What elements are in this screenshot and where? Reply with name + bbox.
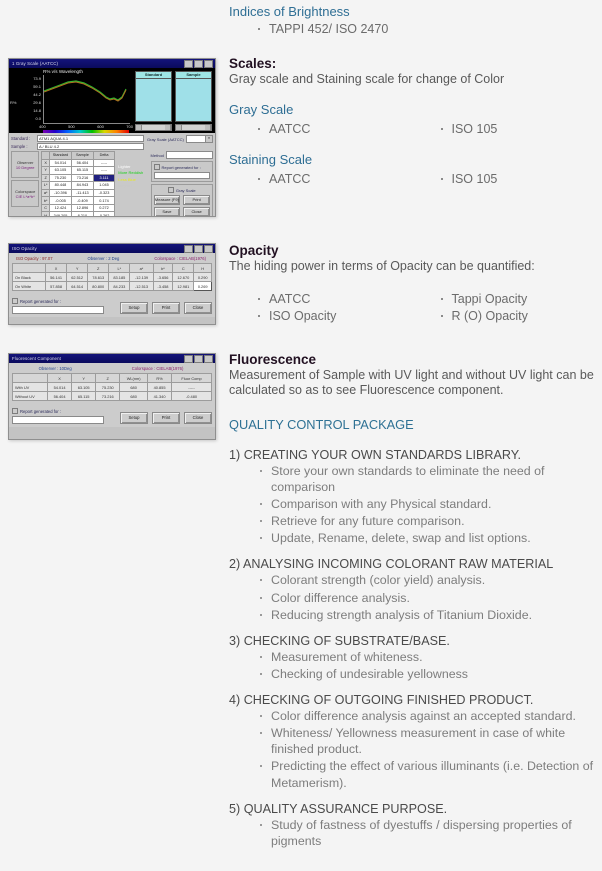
cell-delta: 0.174: [93, 197, 115, 205]
y-tick: 44.2: [21, 91, 41, 99]
content-column: Indices of Brightness TAPPI 452/ ISO 247…: [229, 0, 594, 850]
gray-scale-heading[interactable]: Gray Scale: [229, 102, 594, 117]
color-preview-panes: Standard Sample: [135, 68, 215, 133]
close-icon[interactable]: [204, 60, 213, 68]
cell: 680: [120, 392, 148, 401]
right-panel-top: Gray Scale (AATCC) ▾: [147, 135, 213, 151]
gray-scale-left-col: AATCC: [229, 119, 412, 138]
list-item: R (O) Opacity: [452, 308, 595, 324]
corner-cell: [13, 264, 46, 273]
method-label: Method: [151, 153, 164, 158]
column-header: WL(nm): [120, 374, 148, 383]
cell-sample: 84.943: [72, 182, 94, 190]
row-label: Without UV: [13, 392, 48, 401]
x-tick: 700: [126, 124, 133, 129]
fluorescence-buttons: Setup Print Close: [120, 412, 212, 424]
setup-button[interactable]: Setup: [120, 412, 148, 424]
y-tick: 0.0: [21, 115, 41, 123]
sample-input[interactable]: [37, 143, 144, 150]
opacity-buttons: Setup Print Close: [120, 302, 212, 314]
y-tick: 14.8: [21, 107, 41, 115]
column-header: Delta: [93, 152, 115, 160]
column-header: Z: [96, 374, 120, 383]
cell: 80.800: [88, 282, 109, 291]
report-group: Report generated for :: [12, 298, 104, 314]
list-item: Checking of undesirable yellowness: [271, 666, 594, 682]
staining-scale-heading[interactable]: Staining Scale: [229, 152, 594, 167]
qc-group: 5) QUALITY ASSURANCE PURPOSE. Study of f…: [229, 802, 594, 849]
scroll-left-arrow[interactable]: [136, 125, 142, 130]
scales-description: Gray scale and Staining scale for change…: [229, 72, 594, 88]
opacity-footer: Report generated for : Setup Print Close: [12, 298, 212, 314]
column-header: Standard: [49, 152, 71, 160]
scales-heading: Scales:: [229, 56, 594, 71]
cell-delta: 0.272: [93, 204, 115, 212]
method-input[interactable]: [166, 151, 213, 159]
column-header: X: [48, 374, 72, 383]
fluorescence-table: X Y Z WL(nm) R% Fluor Comp With UV 54.01…: [12, 373, 212, 401]
table-header-row: X Y Z L* a* b* C H: [13, 264, 212, 273]
qc-group: 2) ANALYSING INCOMING COLORANT RAW MATER…: [229, 557, 594, 622]
table-row: On White 57.858 64.514 80.800 84.233 -12…: [13, 282, 212, 291]
staining-scale-right-col: ISO 105: [412, 169, 595, 188]
print-button[interactable]: Print: [183, 195, 210, 205]
cell: 83.185: [109, 273, 130, 282]
list-item: Colorant strength (color yield) analysis…: [271, 572, 594, 588]
list-item: ISO 105: [452, 121, 595, 137]
table-row: L* 80.448 84.943 1.045: [42, 182, 115, 190]
cell: 680: [120, 383, 148, 392]
column-header: X: [46, 264, 67, 273]
list-item: Color difference analysis against an acc…: [271, 708, 594, 724]
indices-of-brightness-heading[interactable]: Indices of Brightness: [229, 4, 594, 19]
list-item: Predicting the effect of various illumin…: [271, 758, 594, 790]
cell: 57.858: [46, 282, 67, 291]
list-item: TAPPI 452/ ISO 2470: [269, 21, 594, 37]
fluorescence-window-body: Observer : 10Deg Colorspace : CIELAB(197…: [9, 363, 215, 427]
corner-cell: [42, 152, 50, 160]
chevron-down-icon[interactable]: ▾: [205, 136, 212, 142]
cell-standard: -0.005: [49, 197, 71, 205]
opacity-meta-row: ISO Opacity : 97.07 Observer : 2 Deg Col…: [12, 256, 212, 263]
column-header: L*: [109, 264, 130, 273]
list-item: Comparison with any Physical standard.: [271, 496, 594, 512]
sample-pane: Sample: [175, 71, 212, 133]
report-checkbox[interactable]: Report generated for :: [12, 298, 104, 304]
opacity-window-body: ISO Opacity : 97.07 Observer : 2 Deg Col…: [9, 253, 215, 317]
opacity-description: The hiding power in terms of Opacity can…: [229, 259, 594, 275]
cell-delta-selected: 3.111: [93, 174, 115, 182]
sample-field-label: Sample :: [11, 144, 37, 149]
gray-scale-controls: Standard : Sample : Gray Scale (AATCC) ▾: [9, 133, 215, 217]
table-row: Without UV 56.404 65.115 73.216 680 41.3…: [13, 392, 212, 401]
note-brighter: Brighter: [118, 183, 148, 189]
chart-plot-area: [43, 75, 130, 124]
checkbox-icon[interactable]: [12, 408, 18, 414]
close-button[interactable]: Close: [184, 412, 212, 424]
list-item: AATCC: [269, 121, 412, 137]
screenshot-gray-scale[interactable]: 1 Gray Scale (AATCC) R% v/s Wavelength R…: [8, 58, 216, 217]
spectral-curve: [44, 75, 130, 123]
row-label: Z: [42, 174, 50, 182]
list-item: AATCC: [269, 171, 412, 187]
cell: 56.404: [48, 392, 72, 401]
cell: 12.670: [173, 273, 194, 282]
window-controls[interactable]: [184, 355, 214, 363]
y-tick: 73.9: [21, 75, 41, 83]
table-row: H 349.205 8.210 -0.262: [42, 212, 115, 217]
cell-standard: -10.396: [49, 189, 71, 197]
sample-color-swatch: [175, 79, 212, 122]
standard-field-label: Standard :: [11, 136, 37, 141]
cell: -12.139: [130, 273, 153, 282]
observer-card[interactable]: Observer 10 Degree: [11, 151, 39, 178]
staining-scale-left-col: AATCC: [229, 169, 412, 188]
cell: -3.656: [153, 273, 173, 282]
checkbox-icon[interactable]: [154, 164, 160, 170]
scale-select-label: Gray Scale (AATCC): [147, 137, 184, 142]
list-item: Tappi Opacity: [452, 291, 595, 307]
fluor-meta-row: Observer : 10Deg Colorspace : CIELAB(197…: [12, 366, 212, 373]
cell: 73.216: [96, 392, 120, 401]
row-label: L*: [42, 182, 50, 190]
cell: 0.290: [194, 273, 212, 282]
window-title-bar: 1 Gray Scale (AATCC): [9, 59, 215, 68]
staining-scale-columns: AATCC ISO 105: [229, 169, 594, 188]
measure-button[interactable]: Measure (F9): [154, 195, 181, 205]
row-label: C: [42, 204, 50, 212]
opacity-right-col: Tappi Opacity R (O) Opacity: [412, 289, 595, 326]
list-item: Study of fastness of dyestuffs / dispers…: [271, 817, 594, 849]
cell: 12.981: [173, 282, 194, 291]
cell: -0.480: [172, 392, 212, 401]
qc-group-items: Colorant strength (color yield) analysis…: [229, 572, 594, 622]
cell-standard: 54.014: [49, 159, 71, 167]
checkbox-icon[interactable]: [168, 187, 174, 193]
documentation-page: Indices of Brightness TAPPI 452/ ISO 247…: [0, 0, 602, 871]
maximize-icon[interactable]: [194, 355, 203, 363]
table-row: Z 75.230 73.216 3.111: [42, 174, 115, 182]
list-item: Reducing strength analysis of Titanium D…: [271, 607, 594, 623]
table-header-row: Standard Sample Delta: [42, 152, 115, 160]
opacity-table: X Y Z L* a* b* C H On Black 56.141 62.51…: [12, 263, 212, 291]
row-label: a*: [42, 189, 50, 197]
report-group: Report generated for :: [12, 408, 104, 424]
table-row: On Black 56.141 62.512 78.613 83.185 -12…: [13, 273, 212, 282]
interpretation-notes: Lighter More Reddish Less Blue Brighter: [117, 151, 148, 217]
report-group: Report generated for :: [151, 161, 213, 182]
cell: 56.141: [46, 273, 67, 282]
list-item: Color difference analysis.: [271, 590, 594, 606]
row-label: On Black: [13, 273, 46, 282]
spectral-chart-area: R% v/s Wavelength R% 73.9 59.1 44.2 29.6…: [9, 68, 215, 133]
window-title: 1 Gray Scale (AATCC): [10, 61, 58, 66]
table-row: X 54.014 56.404 -----: [42, 159, 115, 167]
column-header: Fluor Comp: [172, 374, 212, 383]
column-header: b*: [153, 264, 173, 273]
list-item: Measurement of whiteness.: [271, 649, 594, 665]
chart-ylabel: R%: [10, 100, 16, 105]
table-row: Y 63.105 65.115 -----: [42, 167, 115, 175]
standard-pane: Standard: [135, 71, 172, 133]
list-item: ISO Opacity: [269, 308, 412, 324]
table-header-row: X Y Z WL(nm) R% Fluor Comp: [13, 374, 212, 383]
cell-delta: -----: [93, 159, 115, 167]
column-header: Y: [67, 264, 88, 273]
qc-group-title: 1) CREATING YOUR OWN STANDARDS LIBRARY.: [229, 448, 594, 462]
button-row-2: Save Screen... Close: [154, 207, 210, 217]
row-label: Y: [42, 167, 50, 175]
x-tick: 600: [97, 124, 104, 129]
qc-group-items: Color difference analysis against an acc…: [229, 708, 594, 791]
fluorescence-description: Measurement of Sample with UV light and …: [229, 368, 594, 399]
table-row: a* -10.396 -11.413 -0.323: [42, 189, 115, 197]
sample-field-row: Sample :: [11, 143, 144, 150]
cell-sample: 12.896: [72, 204, 94, 212]
cell: -3.458: [153, 282, 173, 291]
qc-group-items: Study of fastness of dyestuffs / dispers…: [229, 817, 594, 849]
maximize-icon[interactable]: [194, 245, 203, 253]
cell-sample: 65.115: [72, 167, 94, 175]
report-text-input[interactable]: [154, 172, 210, 179]
list-item: ISO 105: [452, 171, 595, 187]
reflectance-chart: R% v/s Wavelength R% 73.9 59.1 44.2 29.6…: [9, 68, 135, 133]
column-header: Y: [72, 374, 96, 383]
cell-sample: 8.210: [72, 212, 94, 217]
cell: 75.230: [96, 383, 120, 392]
column-header: Z: [88, 264, 109, 273]
cell-standard: 12.424: [49, 204, 71, 212]
observer-colorspace-panel: Observer 10 Degree Colorspace CIE L*a*b*: [11, 151, 39, 217]
button-row-1: Measure (F9) Print: [154, 195, 210, 205]
minimize-icon[interactable]: [184, 245, 193, 253]
cell: -----: [172, 383, 212, 392]
cell: -12.513: [130, 282, 153, 291]
list-item: Retrieve for any future comparison.: [271, 513, 594, 529]
report-text-input[interactable]: [12, 306, 104, 314]
window-title: ISO Opacity: [10, 246, 37, 251]
colorspace-value: CIE L*a*b*: [16, 194, 35, 199]
cell-standard: 63.105: [49, 167, 71, 175]
cell-standard: 75.230: [49, 174, 71, 182]
close-icon[interactable]: [204, 355, 213, 363]
column-header: C: [173, 264, 194, 273]
row-label: On White: [13, 282, 46, 291]
cell-sample: -11.413: [72, 189, 94, 197]
observer-value: 10 Degree: [16, 165, 35, 170]
y-tick: 59.1: [21, 83, 41, 91]
row-label: H: [42, 212, 50, 217]
window-controls[interactable]: [184, 60, 214, 68]
minimize-icon[interactable]: [184, 355, 193, 363]
qc-group: 4) CHECKING OF OUTGOING FINISHED PRODUCT…: [229, 693, 594, 791]
qc-group-title: 4) CHECKING OF OUTGOING FINISHED PRODUCT…: [229, 693, 594, 707]
minimize-icon[interactable]: [184, 60, 193, 68]
quality-control-package-heading[interactable]: QUALITY CONTROL PACKAGE: [229, 417, 594, 432]
close-icon[interactable]: [204, 245, 213, 253]
report-checkbox-label: Report generated for :: [20, 299, 61, 304]
opacity-columns: AATCC ISO Opacity Tappi Opacity R (O) Op…: [229, 289, 594, 326]
window-title-bar: Fluorescent Component: [9, 354, 215, 363]
sample-pane-label: Sample: [175, 71, 212, 79]
row-label: b*: [42, 197, 50, 205]
cell: 84.233: [109, 282, 130, 291]
scroll-right-arrow[interactable]: [205, 125, 211, 130]
scroll-left-arrow[interactable]: [176, 125, 182, 130]
colorspace-card[interactable]: Colorspace CIE L*a*b*: [11, 180, 39, 207]
report-checkbox-label: Report generated for :: [162, 165, 201, 170]
chart-x-axis: 400 500 600 700: [39, 124, 133, 129]
cell-delta: -0.262: [93, 212, 115, 217]
cell: 78.613: [88, 273, 109, 282]
fluorescence-heading: Fluorescence: [229, 352, 594, 367]
maximize-icon[interactable]: [194, 60, 203, 68]
cell-delta: 1.045: [93, 182, 115, 190]
report-checkbox[interactable]: Report generated for :: [154, 164, 210, 170]
table-row: C 12.424 12.896 0.272: [42, 204, 115, 212]
close-button[interactable]: Close: [183, 207, 210, 217]
corner-cell: [13, 374, 48, 383]
cell: 65.115: [72, 392, 96, 401]
scale-select-row: Gray Scale (AATCC) ▾: [147, 135, 213, 143]
cell-sample: -0.409: [72, 197, 94, 205]
window-title-bar: ISO Opacity: [9, 244, 215, 253]
cell: 54.014: [48, 383, 72, 392]
setup-button[interactable]: Setup: [120, 302, 148, 314]
scroll-right-arrow[interactable]: [165, 125, 171, 130]
standard-input[interactable]: [37, 135, 144, 142]
standard-scrollbar[interactable]: [135, 124, 172, 131]
cell: 63.105: [72, 383, 96, 392]
cell-delta: -0.323: [93, 189, 115, 197]
row-label: With UV: [13, 383, 48, 392]
window-controls[interactable]: [184, 245, 214, 253]
scale-dropdown[interactable]: ▾: [186, 135, 213, 143]
opacity-value-label: ISO Opacity : 97.07: [16, 256, 53, 261]
qc-group: 1) CREATING YOUR OWN STANDARDS LIBRARY. …: [229, 448, 594, 547]
save-screen-button[interactable]: Save Screen...: [154, 207, 181, 217]
gray-scale-checkbox[interactable]: Gray Scale: [154, 187, 210, 193]
action-group: Gray Scale Measure (F9) Print Save Scree…: [151, 184, 213, 217]
cell-sample: 73.216: [72, 174, 94, 182]
qc-group-title: 2) ANALYSING INCOMING COLORANT RAW MATER…: [229, 557, 594, 571]
opacity-left-col: AATCC ISO Opacity: [229, 289, 412, 326]
screenshot-iso-opacity[interactable]: ISO Opacity ISO Opacity : 97.07 Observer…: [8, 243, 216, 325]
x-tick: 500: [68, 124, 75, 129]
cell: 62.512: [67, 273, 88, 282]
list-item: Whiteness/ Yellowness measurement in cas…: [271, 725, 594, 757]
gray-scale-right-col: ISO 105: [412, 119, 595, 138]
cell: 40.855: [148, 383, 172, 392]
table-row: With UV 54.014 63.105 75.230 680 40.855 …: [13, 383, 212, 392]
chart-y-axis: 73.9 59.1 44.2 29.6 14.8 0.0: [21, 75, 41, 123]
gray-scale-columns: AATCC ISO 105: [229, 119, 594, 138]
method-row: Method: [151, 151, 213, 159]
screenshot-fluorescent-component[interactable]: Fluorescent Component Observer : 10Deg C…: [8, 353, 216, 440]
window-title: Fluorescent Component: [10, 356, 61, 361]
column-header: R%: [148, 374, 172, 383]
fluorescence-footer: Report generated for : Setup Print Close: [12, 408, 212, 424]
cell-standard: 80.448: [49, 182, 71, 190]
cell-standard: 349.205: [49, 212, 71, 217]
standard-pane-label: Standard: [135, 71, 172, 79]
cell-selected: 0.269: [194, 282, 212, 291]
cell-sample: 56.404: [72, 159, 94, 167]
qc-group-title: 3) CHECKING OF SUBSTRATE/BASE.: [229, 634, 594, 648]
close-button[interactable]: Close: [184, 302, 212, 314]
column-header: H: [194, 264, 212, 273]
qc-group: 3) CHECKING OF SUBSTRATE/BASE. Measureme…: [229, 634, 594, 682]
cell: 64.514: [67, 282, 88, 291]
qc-group-items: Store your own standards to eliminate th…: [229, 463, 594, 547]
x-tick: 400: [39, 124, 46, 129]
list-item: Update, Rename, delete, swap and list op…: [271, 530, 594, 546]
report-text-input[interactable]: [12, 416, 104, 424]
cell: 41.340: [148, 392, 172, 401]
cell-delta: -----: [93, 167, 115, 175]
row-label: X: [42, 159, 50, 167]
print-button[interactable]: Print: [152, 412, 180, 424]
list-item: AATCC: [269, 291, 412, 307]
y-tick: 29.6: [21, 99, 41, 107]
results-area: Observer 10 Degree Colorspace CIE L*a*b*…: [11, 151, 213, 217]
brightness-list: TAPPI 452/ ISO 2470: [229, 21, 594, 37]
standard-field-row: Standard :: [11, 135, 144, 142]
qc-group-items: Measurement of whiteness. Checking of un…: [229, 649, 594, 682]
right-panel: Method Report generated for : Gra: [151, 151, 213, 217]
measurement-table: Standard Sample Delta X 54.014 56.404 --…: [41, 151, 115, 217]
column-header: a*: [130, 264, 153, 273]
observer-label: Observer : 10Deg: [39, 366, 72, 371]
colorspace-label: Colorspace : CIELAB(1976): [132, 366, 184, 371]
column-header: Sample: [72, 152, 94, 160]
print-button[interactable]: Print: [152, 302, 180, 314]
table-row: b* -0.005 -0.409 0.174: [42, 197, 115, 205]
list-item: Store your own standards to eliminate th…: [271, 463, 594, 495]
opacity-heading: Opacity: [229, 243, 594, 258]
colorspace-label: Colorspace : CIELAB(1976): [154, 256, 206, 261]
checkbox-icon[interactable]: [12, 298, 18, 304]
standard-color-swatch: [135, 79, 172, 122]
sample-scrollbar[interactable]: [175, 124, 212, 131]
report-checkbox[interactable]: Report generated for :: [12, 408, 104, 414]
qc-group-title: 5) QUALITY ASSURANCE PURPOSE.: [229, 802, 594, 816]
observer-label: Observer : 2 Deg: [87, 256, 119, 261]
chart-title: R% v/s Wavelength: [43, 69, 83, 74]
report-checkbox-label: Report generated for :: [20, 409, 61, 414]
gray-scale-checkbox-label: Gray Scale: [176, 188, 196, 193]
